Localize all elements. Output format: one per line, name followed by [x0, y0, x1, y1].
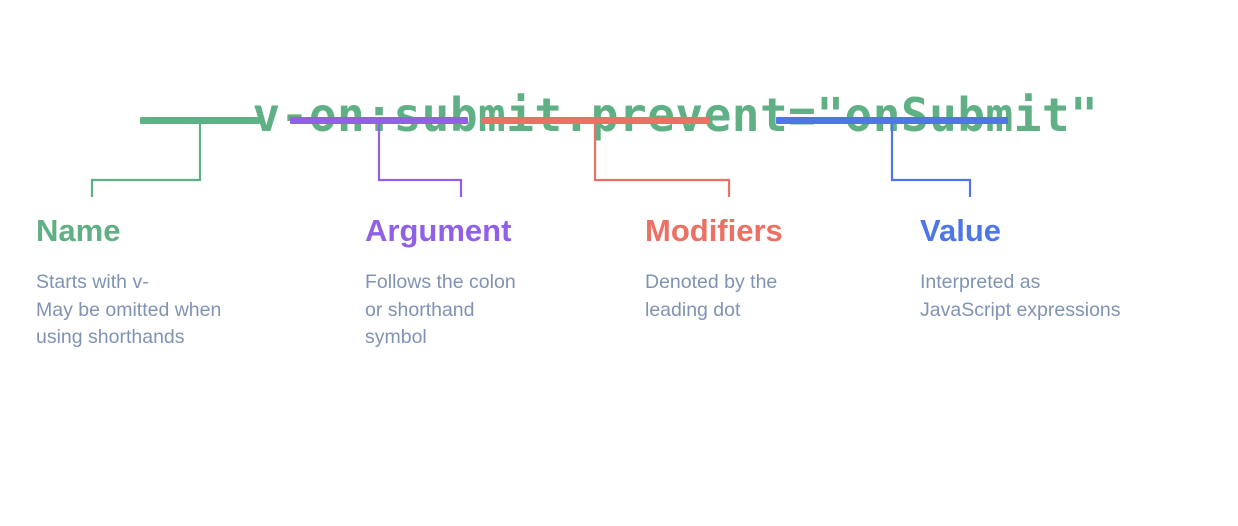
segment-label-argument: Argument Follows the colon or shorthand …	[365, 214, 516, 352]
segment-title-name: Name	[36, 214, 221, 248]
segment-description-modifiers: Denoted by the leading dot	[645, 269, 783, 324]
label-spacer	[36, 248, 221, 269]
segment-description-name: Starts with v- May be omitted when using…	[36, 269, 221, 352]
label-spacer	[365, 248, 516, 269]
segment-description-value: Interpreted as JavaScript expressions	[920, 269, 1121, 324]
label-spacer	[645, 248, 783, 269]
segment-label-name: Name Starts with v- May be omitted when …	[36, 214, 221, 352]
segment-description-argument: Follows the colon or shorthand symbol	[365, 269, 516, 352]
directive-code-expression: v-on:submit.prevent="onSubmit"	[0, 46, 1238, 184]
segment-label-modifiers: Modifiers Denoted by the leading dot	[645, 214, 783, 324]
segment-title-value: Value	[920, 214, 1121, 248]
label-spacer	[920, 248, 1121, 269]
segment-label-value: Value Interpreted as JavaScript expressi…	[920, 214, 1121, 324]
code-text: v-on:submit.prevent="onSubmit"	[252, 88, 1098, 142]
segment-title-modifiers: Modifiers	[645, 214, 783, 248]
vue-directive-syntax-diagram: v-on:submit.prevent="onSubmit" Name Star…	[0, 0, 1238, 526]
segment-title-argument: Argument	[365, 214, 516, 248]
